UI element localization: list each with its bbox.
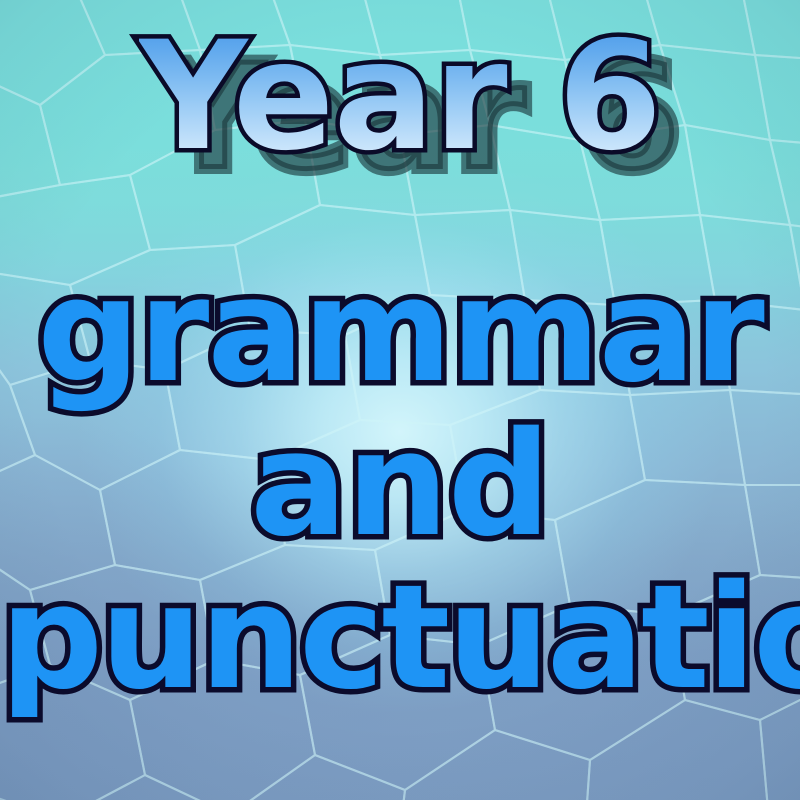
title-line-year: Year 6 Year 6 Year 6: [0, 22, 800, 172]
punctuation-text-fill: punctuation: [0, 553, 800, 721]
title-text-block: Year 6 Year 6 Year 6 grammar grammar and…: [0, 0, 800, 800]
poster-canvas: Year 6 Year 6 Year 6 grammar grammar and…: [0, 0, 800, 800]
title-line-grammar: grammar grammar: [0, 258, 800, 402]
and-text-fill: and: [250, 400, 550, 568]
punctuation-text-wrapper: punctuation punctuation: [0, 565, 800, 709]
year-text-fill: Year 6: [139, 10, 661, 184]
grammar-text-fill: grammar: [37, 246, 763, 414]
grammar-text-wrapper: grammar grammar: [37, 258, 763, 402]
title-line-punctuation: punctuation punctuation: [0, 565, 800, 709]
and-text-wrapper: and and: [250, 412, 550, 556]
year-text-wrapper: Year 6 Year 6 Year 6: [139, 22, 661, 172]
title-line-and: and and: [0, 412, 800, 556]
